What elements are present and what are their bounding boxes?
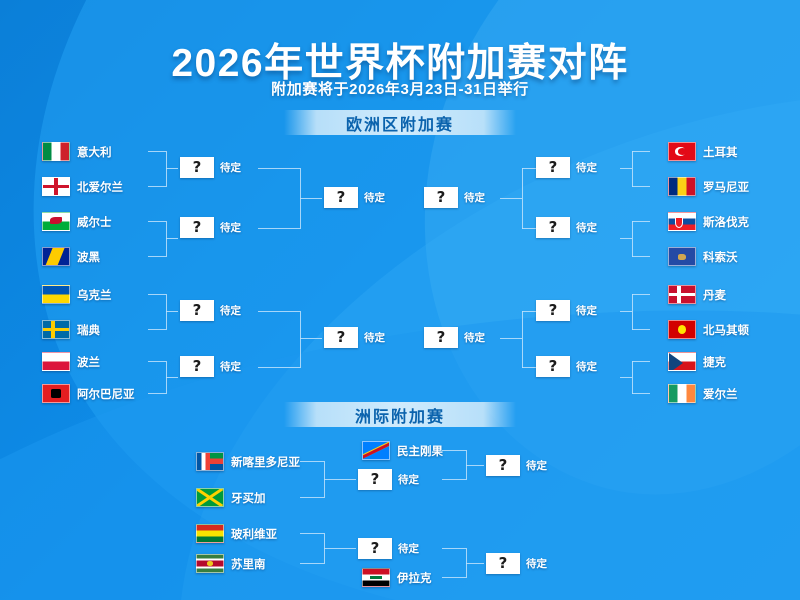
kosovo-flag xyxy=(668,247,696,266)
bracket-line xyxy=(324,548,356,549)
bracket-line xyxy=(522,311,523,368)
team-name: 丹麦 xyxy=(703,287,726,303)
tbd-label: 待定 xyxy=(220,303,241,318)
tbd-label: 待定 xyxy=(220,220,241,235)
bracket-line xyxy=(148,221,166,222)
ukraine-flag xyxy=(42,285,70,304)
bracket-line xyxy=(166,294,167,330)
team-row: 苏里南 xyxy=(196,554,266,573)
section-header-intercontinental: 洲际附加赛 xyxy=(284,402,516,427)
question-mark-icon: ? xyxy=(549,160,558,175)
question-box: ? xyxy=(358,469,392,490)
team-name: 波兰 xyxy=(77,354,100,370)
bracket-line xyxy=(300,563,324,564)
suriname-flag xyxy=(196,554,224,573)
bracket-line xyxy=(148,294,166,295)
section-header-europe: 欧洲区附加赛 xyxy=(284,110,516,135)
bracket-line xyxy=(166,377,178,378)
bracket-line xyxy=(166,311,178,312)
tbd-label: 待定 xyxy=(464,190,485,205)
tbd-slot[interactable]: ? 待定 xyxy=(180,300,241,321)
team-name: 瑞典 xyxy=(77,322,100,338)
bracket-line xyxy=(632,221,633,257)
bracket-line xyxy=(258,228,300,229)
team-name: 新喀里多尼亚 xyxy=(231,454,300,470)
poland-flag xyxy=(42,352,70,371)
question-mark-icon: ? xyxy=(371,541,380,556)
sweden-flag xyxy=(42,320,70,339)
tbd-label: 待定 xyxy=(576,220,597,235)
question-box: ? xyxy=(324,327,358,348)
question-mark-icon: ? xyxy=(337,190,346,205)
north-macedonia-flag xyxy=(668,320,696,339)
bracket-line xyxy=(500,198,522,199)
team-name: 斯洛伐克 xyxy=(703,214,749,230)
tbd-label: 待定 xyxy=(220,160,241,175)
team-name: 乌克兰 xyxy=(77,287,112,303)
new-caledonia-flag xyxy=(196,452,224,471)
team-row: 乌克兰 xyxy=(42,285,112,304)
tbd-slot[interactable]: ? 待定 xyxy=(536,300,597,321)
question-mark-icon: ? xyxy=(549,303,558,318)
team-name: 北爱尔兰 xyxy=(77,179,123,195)
question-box: ? xyxy=(486,455,520,476)
question-mark-icon: ? xyxy=(193,160,202,175)
tbd-label: 待定 xyxy=(464,330,485,345)
bracket-line xyxy=(442,450,466,451)
iraq-flag xyxy=(362,568,390,587)
tbd-label: 待定 xyxy=(526,458,547,473)
bracket-line xyxy=(148,256,166,257)
bracket-line xyxy=(632,221,650,222)
bracket-line xyxy=(442,479,466,480)
team-row: 北马其顿 xyxy=(668,320,749,339)
team-row: 威尔士 xyxy=(42,212,112,231)
question-box: ? xyxy=(324,187,358,208)
bracket-line xyxy=(500,338,522,339)
tbd-slot[interactable]: ? 待定 xyxy=(536,157,597,178)
wales-flag xyxy=(42,212,70,231)
tbd-label: 待定 xyxy=(526,556,547,571)
team-row: 北爱尔兰 xyxy=(42,177,123,196)
bosnia-flag xyxy=(42,247,70,266)
team-name: 爱尔兰 xyxy=(703,386,738,402)
tbd-slot[interactable]: ? 待定 xyxy=(324,187,385,208)
question-mark-icon: ? xyxy=(371,472,380,487)
team-row: 牙买加 xyxy=(196,488,266,507)
question-mark-icon: ? xyxy=(499,556,508,571)
bracket-line xyxy=(620,168,632,169)
team-name: 波黑 xyxy=(77,249,100,265)
team-row: 爱尔兰 xyxy=(668,384,738,403)
bracket-line xyxy=(324,479,356,480)
question-box: ? xyxy=(180,356,214,377)
question-box: ? xyxy=(358,538,392,559)
team-name: 北马其顿 xyxy=(703,322,749,338)
tbd-label: 待定 xyxy=(576,303,597,318)
team-row: 波兰 xyxy=(42,352,100,371)
ireland-flag xyxy=(668,384,696,403)
team-name: 捷克 xyxy=(703,354,726,370)
bracket-line xyxy=(300,497,324,498)
bracket-line xyxy=(632,329,650,330)
tbd-slot[interactable]: ? 待定 xyxy=(486,553,547,574)
question-mark-icon: ? xyxy=(193,359,202,374)
turkey-flag xyxy=(668,142,696,161)
denmark-flag xyxy=(668,285,696,304)
team-name: 苏里南 xyxy=(231,556,266,572)
italy-flag xyxy=(42,142,70,161)
team-row: 科索沃 xyxy=(668,247,738,266)
question-box: ? xyxy=(424,327,458,348)
bracket-line xyxy=(632,151,633,187)
team-row: 斯洛伐克 xyxy=(668,212,749,231)
question-box: ? xyxy=(536,217,570,238)
bracket-line xyxy=(300,338,322,339)
tbd-slot[interactable]: ? 待定 xyxy=(424,327,485,348)
bracket-line xyxy=(620,377,632,378)
team-name: 阿尔巴尼亚 xyxy=(77,386,135,402)
team-name: 玻利维亚 xyxy=(231,526,277,542)
bracket-line xyxy=(166,168,178,169)
bracket-line xyxy=(632,256,650,257)
team-row: 丹麦 xyxy=(668,285,726,304)
tbd-slot[interactable]: ? 待定 xyxy=(536,356,597,377)
bracket-line xyxy=(522,168,523,229)
tbd-slot[interactable]: ? 待定 xyxy=(324,327,385,348)
question-box: ? xyxy=(180,157,214,178)
bracket-line xyxy=(632,151,650,152)
team-row: 捷克 xyxy=(668,352,726,371)
team-name: 牙买加 xyxy=(231,490,266,506)
question-mark-icon: ? xyxy=(499,458,508,473)
czech-flag xyxy=(668,352,696,371)
bracket-line xyxy=(620,311,632,312)
question-mark-icon: ? xyxy=(193,220,202,235)
tbd-label: 待定 xyxy=(398,472,419,487)
team-row: 瑞典 xyxy=(42,320,100,339)
team-row: 罗马尼亚 xyxy=(668,177,749,196)
team-row: 新喀里多尼亚 xyxy=(196,452,300,471)
team-row: 伊拉克 xyxy=(362,568,432,587)
tbd-slot[interactable]: ? 待定 xyxy=(424,187,485,208)
question-mark-icon: ? xyxy=(193,303,202,318)
bracket-line xyxy=(632,361,650,362)
bracket-line xyxy=(166,151,167,187)
bracket-line xyxy=(258,168,300,169)
tbd-slot[interactable]: ? 待定 xyxy=(486,455,547,476)
dr-congo-flag xyxy=(362,441,390,460)
tbd-label: 待定 xyxy=(364,330,385,345)
tbd-slot[interactable]: ? 待定 xyxy=(180,217,241,238)
question-box: ? xyxy=(536,157,570,178)
team-name: 伊拉克 xyxy=(397,570,432,586)
slovakia-flag xyxy=(668,212,696,231)
question-box: ? xyxy=(536,356,570,377)
page-subtitle: 附加赛将于2026年3月23日-31日举行 xyxy=(0,78,800,99)
bracket-line xyxy=(148,329,166,330)
team-name: 土耳其 xyxy=(703,144,738,160)
tbd-label: 待定 xyxy=(398,541,419,556)
tbd-label: 待定 xyxy=(220,359,241,374)
team-name: 意大利 xyxy=(77,144,112,160)
bracket-line xyxy=(300,311,301,368)
playoff-bracket-poster: 2026年世界杯附加赛对阵 附加赛将于2026年3月23日-31日举行 欧洲区附… xyxy=(0,0,800,600)
bracket-line xyxy=(466,465,484,466)
bracket-line xyxy=(632,393,650,394)
bracket-line xyxy=(632,186,650,187)
bracket-line xyxy=(620,238,632,239)
bracket-line xyxy=(300,198,322,199)
tbd-slot[interactable]: ? 待定 xyxy=(180,157,241,178)
question-mark-icon: ? xyxy=(437,190,446,205)
bracket-line xyxy=(632,294,650,295)
question-mark-icon: ? xyxy=(549,359,558,374)
bracket-line xyxy=(148,186,166,187)
question-box: ? xyxy=(486,553,520,574)
bracket-line xyxy=(258,311,300,312)
team-row: 民主刚果 xyxy=(362,441,443,460)
bracket-line xyxy=(258,367,300,368)
bracket-line xyxy=(442,548,466,549)
question-mark-icon: ? xyxy=(549,220,558,235)
tbd-label: 待定 xyxy=(576,359,597,374)
romania-flag xyxy=(668,177,696,196)
bracket-line xyxy=(148,151,166,152)
bracket-line xyxy=(166,221,167,257)
question-mark-icon: ? xyxy=(437,330,446,345)
bracket-line xyxy=(148,361,166,362)
tbd-slot[interactable]: ? 待定 xyxy=(536,217,597,238)
team-row: 玻利维亚 xyxy=(196,524,277,543)
bracket-line xyxy=(632,361,633,394)
northern-ireland-flag xyxy=(42,177,70,196)
team-name: 民主刚果 xyxy=(397,443,443,459)
tbd-slot[interactable]: ? 待定 xyxy=(180,356,241,377)
section-header-intercontinental-label: 洲际附加赛 xyxy=(355,403,445,427)
bracket-line xyxy=(166,238,178,239)
bracket-line xyxy=(466,563,484,564)
bracket-line xyxy=(300,461,324,462)
tbd-label: 待定 xyxy=(364,190,385,205)
tbd-label: 待定 xyxy=(576,160,597,175)
section-header-europe-label: 欧洲区附加赛 xyxy=(346,111,454,135)
question-box: ? xyxy=(424,187,458,208)
albania-flag xyxy=(42,384,70,403)
bracket-line xyxy=(148,393,166,394)
question-box: ? xyxy=(536,300,570,321)
bolivia-flag xyxy=(196,524,224,543)
bracket-line xyxy=(442,577,466,578)
team-name: 威尔士 xyxy=(77,214,112,230)
team-name: 罗马尼亚 xyxy=(703,179,749,195)
bracket-line xyxy=(632,294,633,330)
team-row: 阿尔巴尼亚 xyxy=(42,384,135,403)
team-row: 土耳其 xyxy=(668,142,738,161)
bracket-line xyxy=(300,533,324,534)
question-mark-icon: ? xyxy=(337,330,346,345)
tbd-slot[interactable]: ? 待定 xyxy=(358,538,419,559)
tbd-slot[interactable]: ? 待定 xyxy=(358,469,419,490)
team-row: 意大利 xyxy=(42,142,112,161)
question-box: ? xyxy=(180,300,214,321)
team-name: 科索沃 xyxy=(703,249,738,265)
question-box: ? xyxy=(180,217,214,238)
jamaica-flag xyxy=(196,488,224,507)
team-row: 波黑 xyxy=(42,247,100,266)
